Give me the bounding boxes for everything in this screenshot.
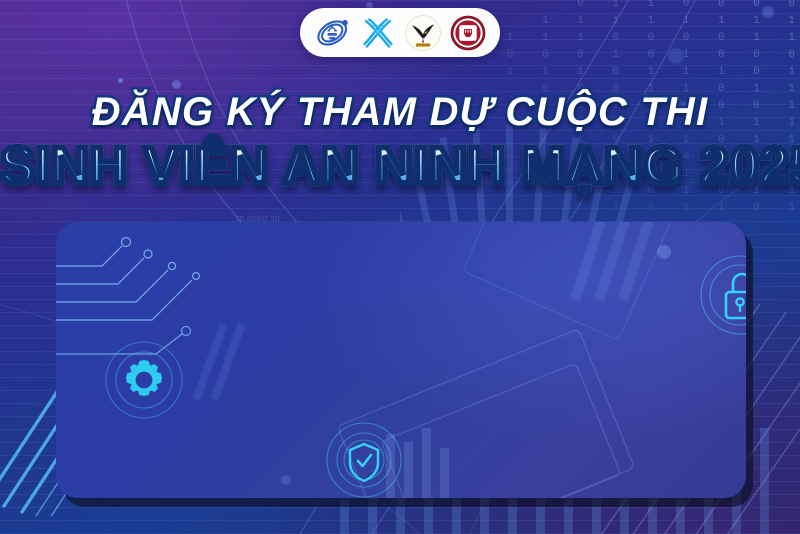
glow-dot — [172, 80, 181, 89]
glow-dot — [762, 6, 774, 18]
eagle-badge-logo: WHITEHAT — [404, 14, 442, 52]
glow-dot — [668, 48, 684, 64]
shield-check-icon — [327, 423, 401, 497]
poster-canvas: 0 1 1 0 0 0 0 1 1 1 1 1 1 1 1 1 1 1 0 0 … — [0, 0, 800, 534]
padlock-open-icon — [701, 256, 746, 334]
card-decor-lines — [56, 222, 746, 498]
svg-text:WHITEHAT: WHITEHAT — [415, 43, 430, 47]
organizer-logo-strip: WHITEHAT — [300, 8, 500, 57]
poster-title-main: ĐĂNG KÝ THAM DỰ CUỘC THI — [0, 92, 800, 132]
gear-icon — [106, 342, 182, 418]
info-card — [56, 222, 746, 498]
crossed-swords-x-logo — [359, 14, 397, 52]
network-port-shield-logo — [449, 14, 487, 52]
atom-orbit-logo — [314, 14, 352, 52]
poster-title-subtitle: SINH VIÊN AN NINH MẠNG 2025 — [0, 140, 800, 192]
glow-dot — [118, 78, 123, 83]
